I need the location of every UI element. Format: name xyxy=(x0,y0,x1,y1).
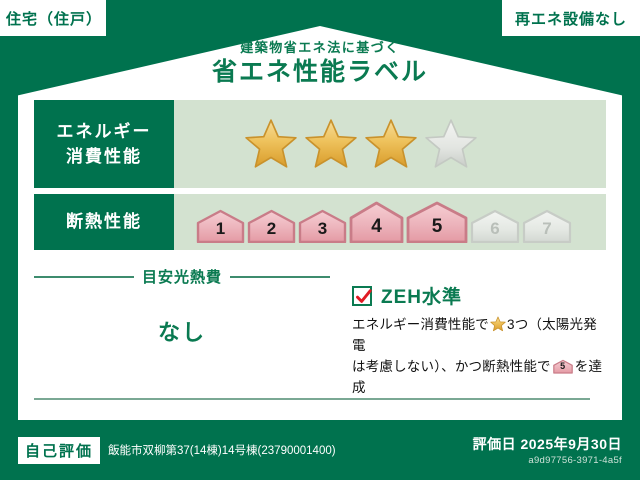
house-icon: 1 xyxy=(196,209,245,243)
house-icon: 4 xyxy=(349,201,404,243)
star-rating xyxy=(174,117,478,171)
star-icon xyxy=(244,117,298,171)
zeh-desc-part1: エネルギー消費性能で xyxy=(352,317,489,332)
zeh-title: ZEH水準 xyxy=(381,282,462,309)
grade-value: 3 xyxy=(298,219,347,239)
utility-cost-section: 目安光熱費 なし xyxy=(34,264,330,414)
grade-value: 7 xyxy=(522,219,572,239)
insulation-performance-label-cell: 断熱性能 xyxy=(34,194,174,250)
grade-value: 5 xyxy=(553,360,573,374)
star-icon-empty xyxy=(424,117,478,171)
house-icon-inactive: 7 xyxy=(522,209,572,243)
insulation-grade-scale: 1 2 3 xyxy=(174,201,572,243)
grade-value: 4 xyxy=(349,216,404,238)
label-content: エネルギー 消費性能 xyxy=(34,100,606,412)
star-icon xyxy=(304,117,358,171)
energy-performance-label-cell: エネルギー 消費性能 xyxy=(34,100,174,188)
utility-cost-heading: 目安光熱費 xyxy=(34,264,330,287)
zeh-section: ZEH水準 エネルギー消費性能で3つ（太陽光発電は考慮しない）、かつ断熱性能で5… xyxy=(330,264,606,414)
energy-performance-row: エネルギー 消費性能 xyxy=(34,100,606,188)
section-divider xyxy=(34,398,320,400)
lower-section: 目安光熱費 なし ZEH水準 エネルギー消費性能で3つ（太陽光発電は考慮しな xyxy=(34,264,606,414)
zeh-desc-part3: は考慮しない）、かつ断熱性能で xyxy=(352,359,551,374)
insulation-performance-row: 断熱性能 1 xyxy=(34,194,606,250)
energy-performance-label: 住宅（住戸） 再エネ設備なし 建築物省エネ法に基づく 省エネ性能ラベル エネルギ… xyxy=(0,0,640,480)
zeh-heading: ZEH水準 xyxy=(352,282,606,309)
grade-value: 1 xyxy=(196,219,245,239)
house-icon: 3 xyxy=(298,209,347,243)
grade-value: 5 xyxy=(406,216,468,238)
house-icon: 5 xyxy=(553,358,573,375)
star-icon xyxy=(490,316,506,332)
utility-cost-heading-text: 目安光熱費 xyxy=(142,266,222,287)
zeh-description: エネルギー消費性能で3つ（太陽光発電は考慮しない）、かつ断熱性能で5を達成 xyxy=(352,315,606,399)
renewable-energy-tag: 再エネ設備なし xyxy=(502,0,640,36)
section-divider xyxy=(316,398,590,400)
energy-label-line1: エネルギー xyxy=(57,119,152,145)
energy-performance-value-cell xyxy=(174,100,606,188)
star-icon xyxy=(364,117,418,171)
rule-right xyxy=(230,276,330,278)
footer-right: 評価日 2025年9月30日 a9d97756-3971-4a5f xyxy=(473,434,622,466)
building-type-tag: 住宅（住戸） xyxy=(0,0,106,36)
self-evaluation-badge: 自己評価 xyxy=(18,437,100,464)
property-address: 飯能市双柳第37(14棟)14号棟(23790001400) xyxy=(108,442,336,458)
rule-left xyxy=(34,276,134,278)
house-icon: 5 xyxy=(406,201,468,243)
utility-cost-value: なし xyxy=(34,315,330,347)
evaluation-date: 評価日 2025年9月30日 xyxy=(473,436,622,452)
energy-label-line2: 消費性能 xyxy=(66,144,142,170)
house-icon: 2 xyxy=(247,209,296,243)
grade-value: 6 xyxy=(470,219,520,239)
checkmark-icon xyxy=(352,286,372,306)
footer-inner: 自己評価 飯能市双柳第37(14棟)14号棟(23790001400) 評価日 … xyxy=(18,428,622,472)
grade-value: 2 xyxy=(247,219,296,239)
label-footer: 自己評価 飯能市双柳第37(14棟)14号棟(23790001400) 評価日 … xyxy=(0,420,640,480)
insulation-performance-value-cell: 1 2 3 xyxy=(174,194,606,250)
house-icon-inactive: 6 xyxy=(470,209,520,243)
document-id: a9d97756-3971-4a5f xyxy=(473,455,622,466)
